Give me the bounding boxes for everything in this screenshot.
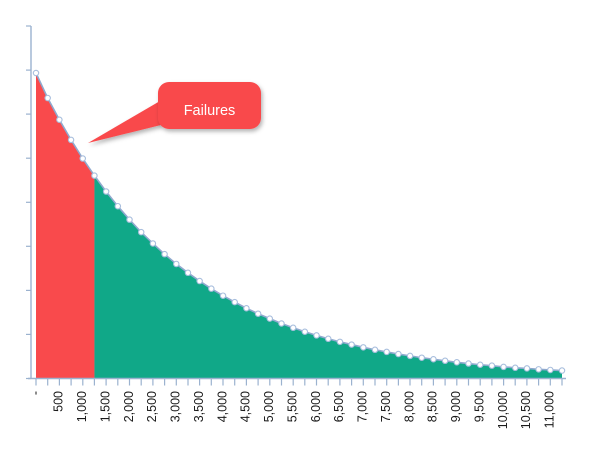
x-axis-tick-label: 3,500 bbox=[192, 391, 206, 422]
x-axis-tick-label: 3,000 bbox=[169, 391, 183, 422]
data-point-marker bbox=[326, 336, 331, 341]
x-axis-tick-label: 9,500 bbox=[472, 391, 486, 422]
data-point-marker bbox=[209, 286, 214, 291]
data-point-marker bbox=[220, 293, 225, 298]
data-point-marker bbox=[57, 117, 62, 122]
x-axis-tick-label: 2,000 bbox=[122, 391, 136, 422]
x-axis-tick-label: 11,000 bbox=[543, 391, 557, 428]
x-axis-tick-label: 5,500 bbox=[285, 391, 299, 422]
data-point-marker bbox=[174, 261, 179, 266]
data-point-marker bbox=[162, 251, 167, 256]
data-point-marker bbox=[407, 353, 412, 358]
chart-canvas: -5001,0001,5002,0002,5003,0003,5004,0004… bbox=[0, 0, 600, 453]
x-axis-tick-label: 6,500 bbox=[332, 391, 346, 422]
data-point-marker bbox=[372, 347, 377, 352]
x-axis-tick-label: 8,500 bbox=[426, 391, 440, 422]
data-point-marker bbox=[45, 95, 50, 100]
data-point-marker bbox=[33, 70, 38, 75]
data-point-marker bbox=[431, 357, 436, 362]
x-axis-tick-label: 5,000 bbox=[262, 391, 276, 422]
data-point-marker bbox=[513, 365, 518, 370]
data-point-marker bbox=[548, 367, 553, 372]
x-axis-tick-label: 8,000 bbox=[402, 391, 416, 422]
data-point-marker bbox=[150, 241, 155, 246]
x-axis-tick-label: 6,000 bbox=[309, 391, 323, 422]
data-point-marker bbox=[139, 229, 144, 234]
x-axis-tick-label: 4,500 bbox=[239, 391, 253, 422]
data-point-marker bbox=[185, 270, 190, 275]
data-point-marker bbox=[559, 368, 564, 373]
callout-label: Failures bbox=[184, 103, 236, 119]
x-axis-tick-label: 1,500 bbox=[98, 391, 112, 422]
data-point-marker bbox=[384, 349, 389, 354]
x-axis-tick-label: 10,000 bbox=[496, 391, 510, 429]
data-point-marker bbox=[115, 204, 120, 209]
data-point-marker bbox=[279, 321, 284, 326]
data-point-marker bbox=[454, 360, 459, 365]
data-point-marker bbox=[489, 363, 494, 368]
data-point-marker bbox=[267, 316, 272, 321]
data-point-marker bbox=[103, 189, 108, 194]
x-axis-tick-label: 4,000 bbox=[215, 391, 229, 422]
x-axis-tick-label: 7,000 bbox=[356, 391, 370, 422]
x-axis-tick-label: 1,000 bbox=[75, 391, 89, 422]
data-point-marker bbox=[290, 325, 295, 330]
data-point-marker bbox=[419, 355, 424, 360]
data-point-marker bbox=[349, 342, 354, 347]
data-point-marker bbox=[396, 351, 401, 356]
data-point-marker bbox=[197, 278, 202, 283]
data-point-marker bbox=[361, 345, 366, 350]
data-point-marker bbox=[302, 329, 307, 334]
data-point-marker bbox=[477, 362, 482, 367]
data-point-marker bbox=[80, 156, 85, 161]
exponential-decay-area-chart: -5001,0001,5002,0002,5003,0003,5004,0004… bbox=[0, 0, 600, 453]
data-point-marker bbox=[536, 367, 541, 372]
x-axis-tick-label: 9,000 bbox=[449, 391, 463, 422]
x-axis-tick-label: 2,500 bbox=[145, 391, 159, 422]
data-point-marker bbox=[442, 358, 447, 363]
data-point-marker bbox=[501, 364, 506, 369]
x-axis-tick-label: 7,500 bbox=[379, 391, 393, 422]
data-point-marker bbox=[337, 339, 342, 344]
x-axis-tick-label: 10,500 bbox=[519, 391, 533, 429]
data-point-marker bbox=[255, 311, 260, 316]
data-point-marker bbox=[232, 299, 237, 304]
data-point-marker bbox=[127, 217, 132, 222]
data-point-marker bbox=[68, 137, 73, 142]
data-point-marker bbox=[524, 366, 529, 371]
data-point-marker bbox=[244, 306, 249, 311]
data-point-marker bbox=[466, 361, 471, 366]
data-point-marker bbox=[92, 173, 97, 178]
x-axis-tick-label: - bbox=[28, 391, 42, 395]
x-axis-tick-label: 500 bbox=[52, 391, 66, 412]
data-point-marker bbox=[314, 333, 319, 338]
